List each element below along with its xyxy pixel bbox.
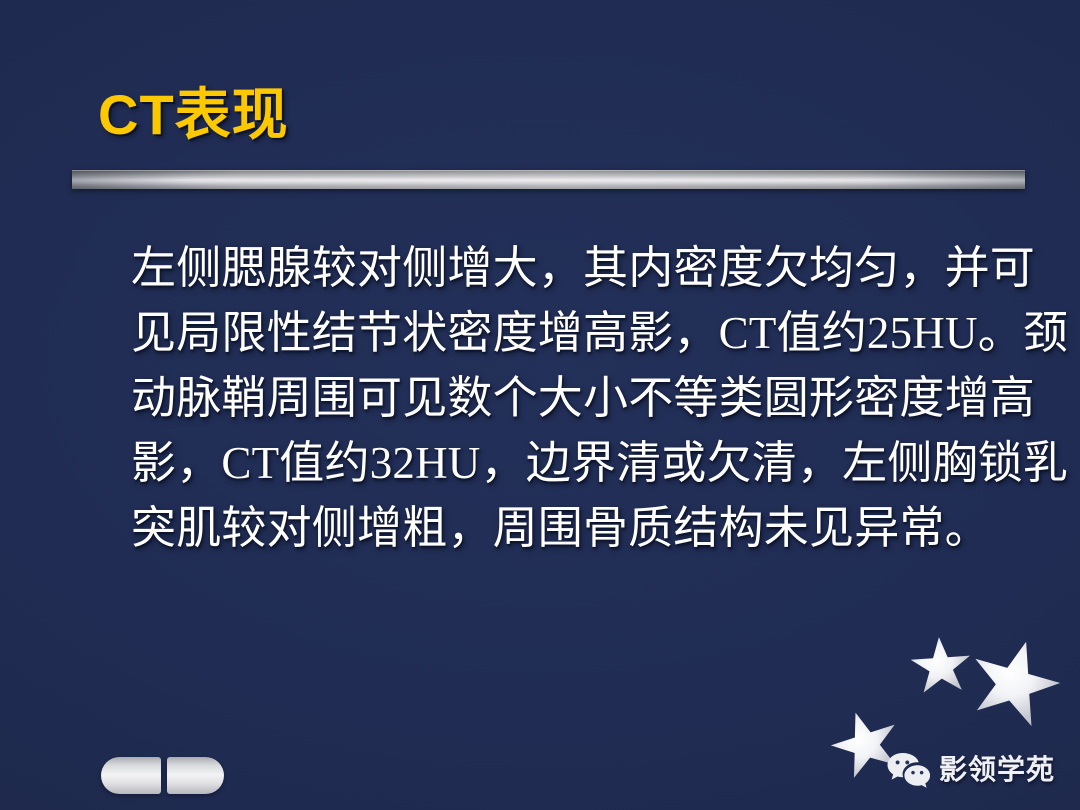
body-line: 动脉鞘周围可见数个大小不等类圆形密度增高 — [131, 366, 995, 431]
slide-body-text: 左侧腮腺较对侧增大，其内密度欠均匀，并可 见局限性结节状密度增高影，CT值约25… — [131, 236, 995, 561]
body-line: 见局限性结节状密度增高影，CT值约25HU。颈 — [131, 301, 995, 366]
watermark-label: 影领学苑 — [939, 756, 1055, 784]
capsule-decoration — [101, 757, 224, 794]
star-icon — [958, 629, 1071, 739]
slide-title-container: CT表现 — [98, 72, 289, 158]
body-line: 突肌较对侧增粗，周围骨质结构未见异常。 — [131, 496, 995, 561]
body-line: 影，CT值约32HU，边界清或欠清，左侧胸锁乳 — [131, 431, 995, 496]
title-divider-bar — [72, 170, 1025, 189]
capsule-right-shape — [167, 757, 224, 794]
body-line: 左侧腮腺较对侧增大，其内密度欠均匀，并可 — [131, 236, 995, 301]
presentation-slide: CT表现 左侧腮腺较对侧增大，其内密度欠均匀，并可 见局限性结节状密度增高影，C… — [0, 0, 1080, 810]
watermark: 影领学苑 — [886, 751, 1055, 789]
wechat-icon — [886, 751, 930, 789]
star-icon — [908, 635, 974, 699]
page-title: CT表现 — [98, 87, 289, 143]
capsule-left-shape — [101, 757, 161, 794]
